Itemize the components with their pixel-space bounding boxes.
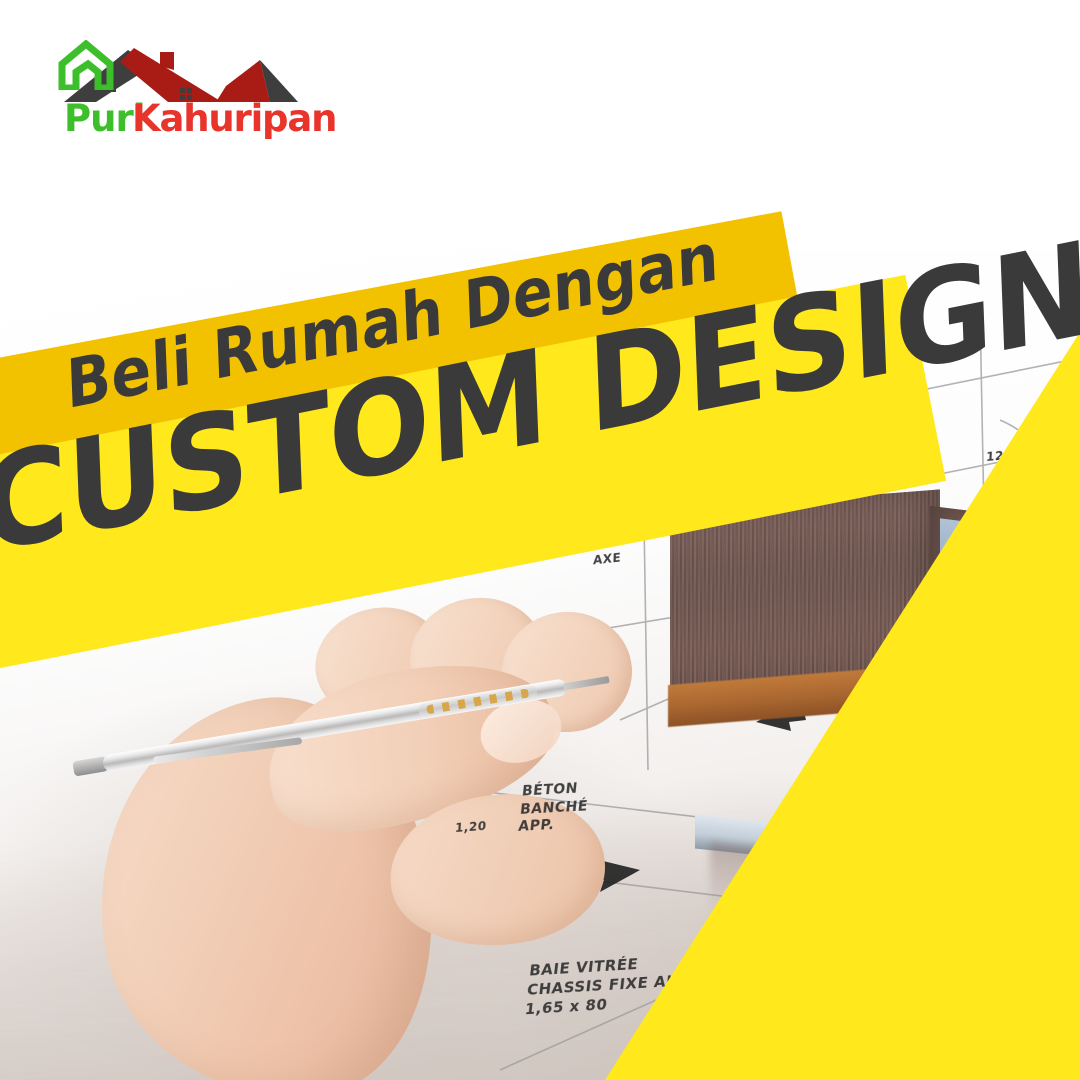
annotation-tick-2: 1,20 (455, 819, 488, 836)
interior-lamp (1066, 698, 1080, 747)
pencil-tip (563, 676, 610, 690)
annotation-dimension: 4,40 (855, 693, 875, 735)
annotation-tick-4: AXE (593, 550, 622, 568)
brand-logo[interactable]: Puri Kahuripan (56, 44, 306, 144)
house-outline-icon (58, 40, 114, 90)
interior-furniture (982, 736, 1054, 789)
house-picture-window (965, 631, 1080, 829)
logo-word-kahuripan: Kahuripan (132, 96, 336, 142)
annotation-beton: BÉTON BANCHÉ APP. (517, 780, 590, 836)
logo-wordmark: Puri Kahuripan (56, 96, 306, 142)
annotation-dalle: DALLE BA STRUCTURE PORTEUSE (976, 918, 1078, 978)
interior-lamp-2 (1044, 703, 1060, 739)
annotation-baie-vitree: BAIE VITRÉE CHASSIS FIXE ALU 1,65 x 80 (524, 952, 692, 1019)
poster-canvas: BÉTON BANCHÉ APP. BAIE VITRÉE CHASSIS FI… (0, 0, 1080, 1080)
